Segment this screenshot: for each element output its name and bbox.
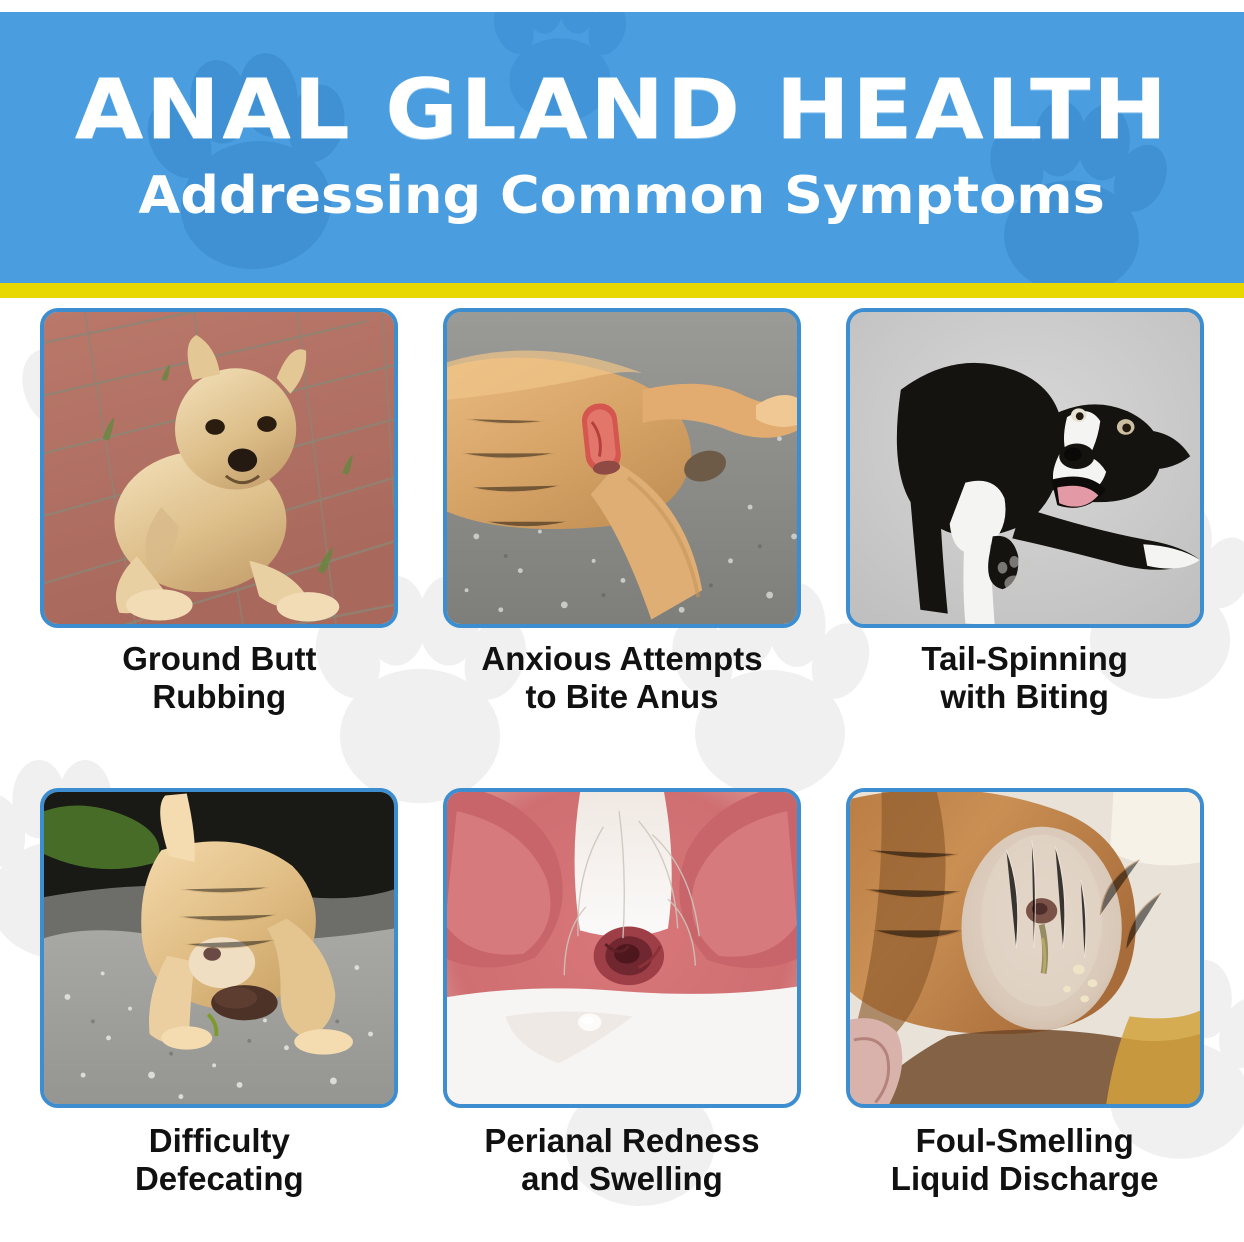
symptom-caption: Perianal Redness and Swelling (484, 1122, 759, 1199)
symptom-card-grid: Ground Butt Rubbing (0, 298, 1244, 1242)
symptom-caption: Ground Butt Rubbing (122, 640, 316, 717)
symptom-card-perianal-redness-and-swelling[interactable]: Perianal Redness and Swelling (425, 770, 820, 1242)
symptom-photo-anxious-attempts-to-bite-anus (443, 308, 801, 628)
symptom-photo-foul-smelling-liquid-discharge (846, 788, 1204, 1108)
symptom-photo-difficulty-defecating (40, 788, 398, 1108)
page-title: ANAL GLAND HEALTH (75, 69, 1170, 153)
symptom-card-ground-butt-rubbing[interactable]: Ground Butt Rubbing (22, 298, 417, 770)
symptom-card-anxious-attempts-to-bite-anus[interactable]: Anxious Attempts to Bite Anus (425, 298, 820, 770)
top-white-sliver (0, 0, 1244, 12)
yellow-divider-bar (0, 283, 1244, 298)
header-banner: ANAL GLAND HEALTH Addressing Common Symp… (0, 12, 1244, 283)
symptom-card-difficulty-defecating[interactable]: Difficulty Defecating (22, 770, 417, 1242)
symptom-caption: Foul-Smelling Liquid Discharge (891, 1122, 1159, 1199)
symptom-caption: Difficulty Defecating (135, 1122, 304, 1199)
symptom-caption: Tail-Spinning with Biting (921, 640, 1128, 717)
symptom-card-foul-smelling-liquid-discharge[interactable]: Foul-Smelling Liquid Discharge (827, 770, 1222, 1242)
symptom-photo-perianal-redness-and-swelling (443, 788, 801, 1108)
page-subtitle: Addressing Common Symptoms (139, 169, 1105, 224)
symptom-grid-section: Ground Butt Rubbing (0, 298, 1244, 1242)
symptom-caption: Anxious Attempts to Bite Anus (481, 640, 762, 717)
symptom-card-tail-spinning-with-biting[interactable]: Tail-Spinning with Biting (827, 298, 1222, 770)
symptom-photo-ground-butt-rubbing (40, 308, 398, 628)
symptom-photo-tail-spinning-with-biting (846, 308, 1204, 628)
